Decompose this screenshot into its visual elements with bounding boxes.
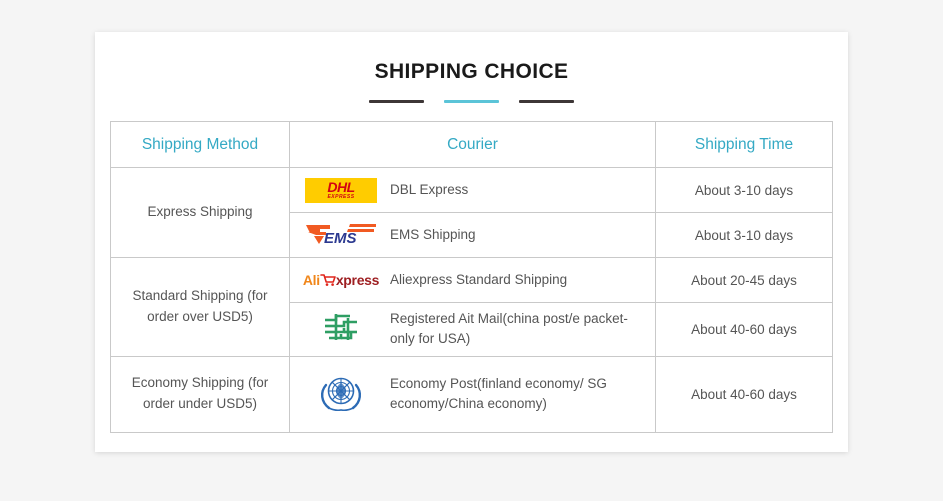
courier-cell-aliexpress: Ali xpress Aliexpress Standard Ship — [290, 258, 656, 303]
shipping-time-value: About 40-60 days — [656, 356, 833, 432]
table-row: Economy Shipping (for order under USD5) — [111, 356, 833, 432]
aliexpress-logo-ali: Ali — [303, 272, 320, 288]
ems-logo-wordmark: EMS — [324, 230, 357, 247]
shipping-time-value: About 3-10 days — [656, 168, 833, 213]
shipping-time-value: About 3-10 days — [656, 213, 833, 258]
divider-dash-left — [369, 100, 424, 103]
courier-cell-economy-post: Economy Post(finland economy/ SG economy… — [290, 356, 656, 432]
courier-name: Registered Ait Mail(china post/e packet-… — [382, 309, 647, 350]
table-header-row: Shipping Method Courier Shipping Time — [111, 122, 833, 168]
united-nations-logo — [317, 371, 365, 417]
table-head: Shipping Method Courier Shipping Time — [111, 122, 833, 168]
courier-cell-dhl: DHL EXPRESS DBL Express — [290, 168, 656, 213]
shipping-choice-card: SHIPPING CHOICE Shipping Method Courier … — [95, 32, 848, 452]
page-title: SHIPPING CHOICE — [95, 60, 848, 84]
courier-name: Aliexpress Standard Shipping — [382, 270, 567, 290]
aliexpress-logo-xpress: xpress — [336, 272, 379, 288]
logo-container: EMS — [300, 222, 382, 248]
courier-cell-china-post: Registered Ait Mail(china post/e packet-… — [290, 303, 656, 357]
shopping-cart-icon — [320, 273, 336, 287]
logo-container: DHL EXPRESS — [300, 178, 382, 203]
shipping-time-value: About 20-45 days — [656, 258, 833, 303]
column-header-shipping-method: Shipping Method — [111, 122, 290, 168]
courier-cell-ems: EMS EMS Shipping — [290, 213, 656, 258]
title-divider-group — [95, 100, 848, 103]
divider-dash-right — [519, 100, 574, 103]
shipping-time-value: About 40-60 days — [656, 303, 833, 357]
dhl-logo: DHL EXPRESS — [305, 178, 377, 203]
shipping-method-economy: Economy Shipping (for order under USD5) — [111, 356, 290, 432]
dhl-logo-subtext: EXPRESS — [327, 195, 354, 200]
page-root: SHIPPING CHOICE Shipping Method Courier … — [0, 0, 943, 501]
ems-logo: EMS — [304, 222, 378, 248]
courier-name: DBL Express — [382, 180, 468, 200]
table-row: Express Shipping DHL EXPRESS DBL Express — [111, 168, 833, 213]
table-row: Standard Shipping (for order over USD5) … — [111, 258, 833, 303]
shipping-method-express: Express Shipping — [111, 168, 290, 258]
china-post-logo — [320, 309, 362, 349]
table-body: Express Shipping DHL EXPRESS DBL Express — [111, 168, 833, 433]
shipping-method-standard: Standard Shipping (for order over USD5) — [111, 258, 290, 357]
divider-dash-center — [444, 100, 499, 103]
shipping-table: Shipping Method Courier Shipping Time Ex… — [110, 121, 833, 433]
logo-container — [300, 371, 382, 417]
aliexpress-logo: Ali xpress — [303, 272, 379, 288]
courier-name: EMS Shipping — [382, 225, 476, 245]
logo-container: Ali xpress — [300, 272, 382, 288]
courier-name: Economy Post(finland economy/ SG economy… — [382, 374, 647, 415]
dhl-logo-wordmark: DHL — [327, 180, 354, 194]
column-header-shipping-time: Shipping Time — [656, 122, 833, 168]
column-header-courier: Courier — [290, 122, 656, 168]
logo-container — [300, 309, 382, 349]
